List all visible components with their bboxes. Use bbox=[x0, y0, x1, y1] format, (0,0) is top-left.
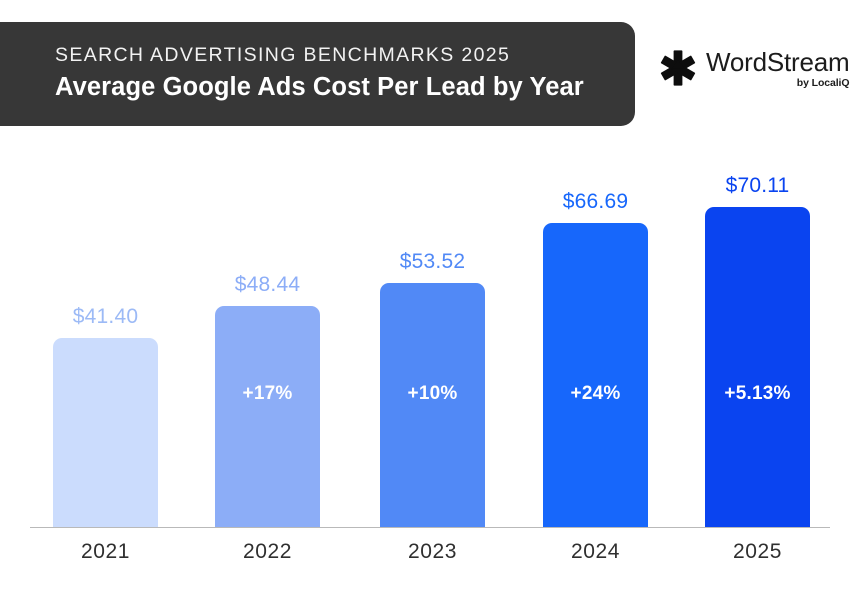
bar-growth-label: +24% bbox=[543, 383, 648, 405]
bar-chart: $41.40 2021 $48.44 +17% 2022 $53.52 +10%… bbox=[0, 0, 860, 600]
bar-value-label: $53.52 bbox=[380, 250, 485, 274]
bar-value-label: $48.44 bbox=[215, 273, 320, 297]
bar-value-label: $66.69 bbox=[543, 190, 648, 214]
x-axis-line bbox=[30, 527, 830, 528]
bar-2024[interactable] bbox=[543, 223, 648, 527]
bar-growth-label: +10% bbox=[380, 383, 485, 405]
x-tick-2022: 2022 bbox=[203, 540, 332, 564]
bar-growth-label: +17% bbox=[215, 383, 320, 405]
bar-2022[interactable] bbox=[215, 306, 320, 527]
bar-2021[interactable] bbox=[53, 338, 158, 527]
bar-growth-label: +5.13% bbox=[705, 383, 810, 405]
x-tick-2021: 2021 bbox=[41, 540, 170, 564]
x-tick-2025: 2025 bbox=[693, 540, 822, 564]
x-tick-2023: 2023 bbox=[368, 540, 497, 564]
bar-2025[interactable] bbox=[705, 207, 810, 527]
bar-value-label: $70.11 bbox=[705, 174, 810, 198]
infographic-canvas: SEARCH ADVERTISING BENCHMARKS 2025 Avera… bbox=[0, 0, 860, 600]
x-tick-2024: 2024 bbox=[531, 540, 660, 564]
bar-value-label: $41.40 bbox=[53, 305, 158, 329]
